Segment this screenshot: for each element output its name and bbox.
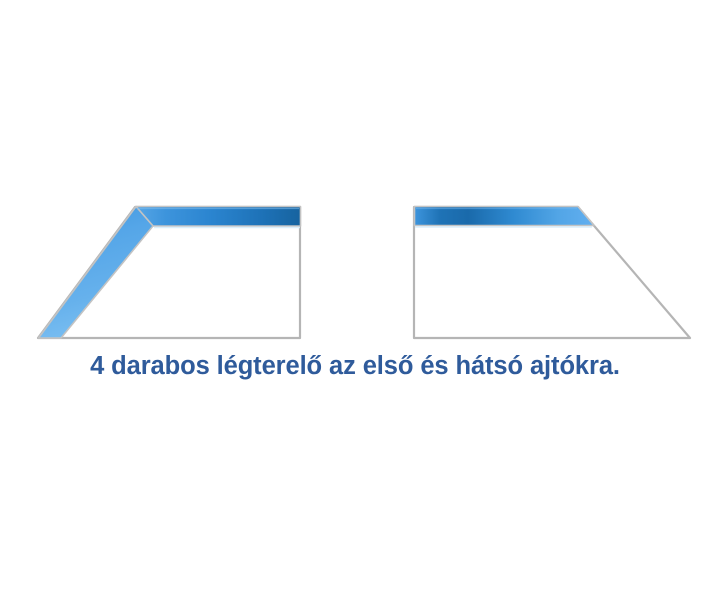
rear-door-deflector-group: [414, 207, 690, 339]
illustration-page: 4 darabos légterelő az első és hátsó ajt…: [0, 0, 710, 613]
front-door-band-top: [136, 207, 301, 227]
rear-door-band-top: [415, 207, 595, 226]
product-illustration: [0, 0, 710, 350]
deflector-diagram-svg: [0, 0, 710, 350]
front-door-deflector-group: [38, 207, 301, 339]
product-caption: 4 darabos légterelő az első és hátsó ajt…: [0, 352, 710, 381]
